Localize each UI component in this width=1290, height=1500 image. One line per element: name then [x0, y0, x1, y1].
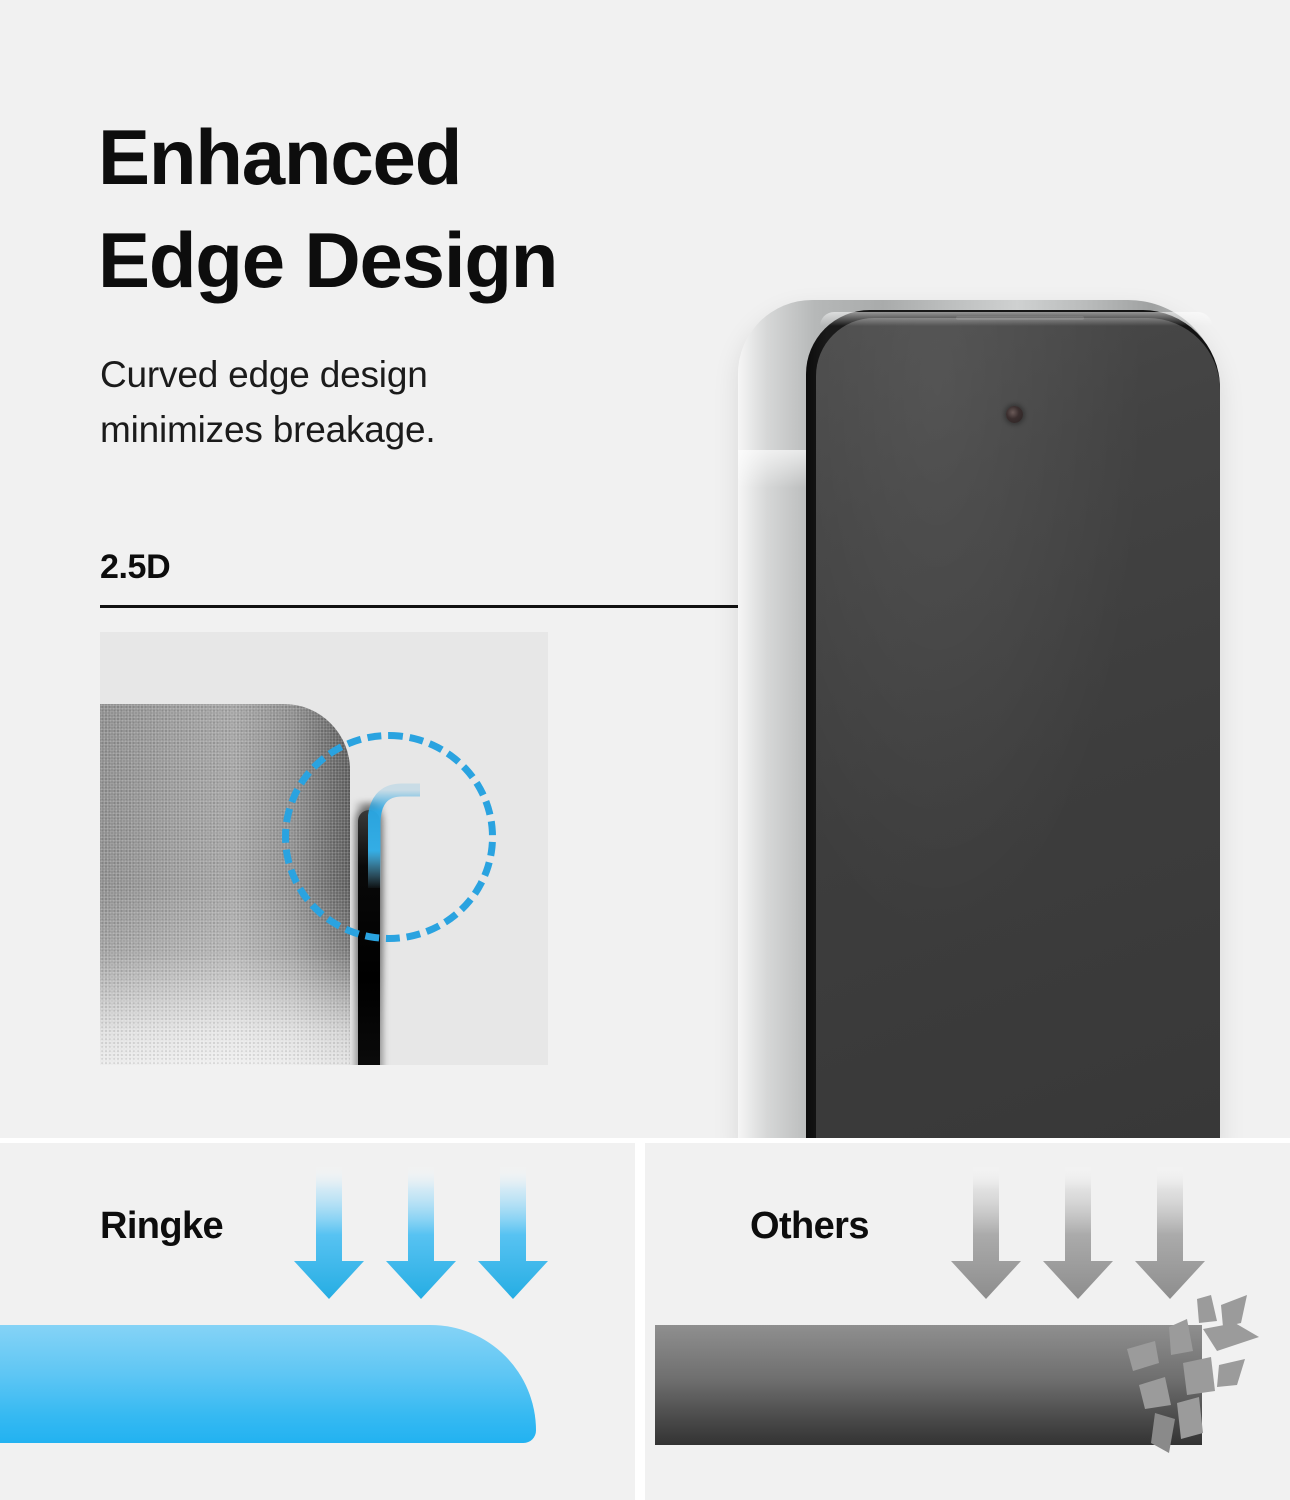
- impact-arrows-blue: [288, 1165, 548, 1300]
- callout-label-2-5d: 2.5D: [100, 548, 170, 587]
- product-feature-page: Enhanced Edge Design Curved edge design …: [0, 0, 1290, 1500]
- ringke-protector-slab: [0, 1325, 536, 1443]
- dashed-highlight-circle: [282, 732, 496, 942]
- panel-label-ringke: Ringke: [100, 1205, 223, 1248]
- screen-glare: [820, 312, 1212, 326]
- comparison-section: Ringke Others: [0, 1143, 1290, 1500]
- others-protector-slab: [655, 1325, 1202, 1445]
- shatter-burst-icon: [1125, 1293, 1275, 1458]
- comparison-panel-ringke: [0, 1143, 635, 1500]
- page-subtitle: Curved edge design minimizes breakage.: [100, 348, 436, 458]
- comparison-panel-others: [645, 1143, 1290, 1500]
- impact-arrows-gray: [945, 1165, 1205, 1300]
- front-camera-icon: [1006, 406, 1023, 423]
- phone-image: [720, 288, 1240, 1138]
- hero-section: Enhanced Edge Design Curved edge design …: [0, 0, 1290, 1138]
- phone-screen: [816, 318, 1220, 1138]
- page-title: Enhanced Edge Design: [98, 106, 557, 312]
- panel-label-others: Others: [750, 1205, 869, 1248]
- edge-detail-image: [100, 632, 548, 1065]
